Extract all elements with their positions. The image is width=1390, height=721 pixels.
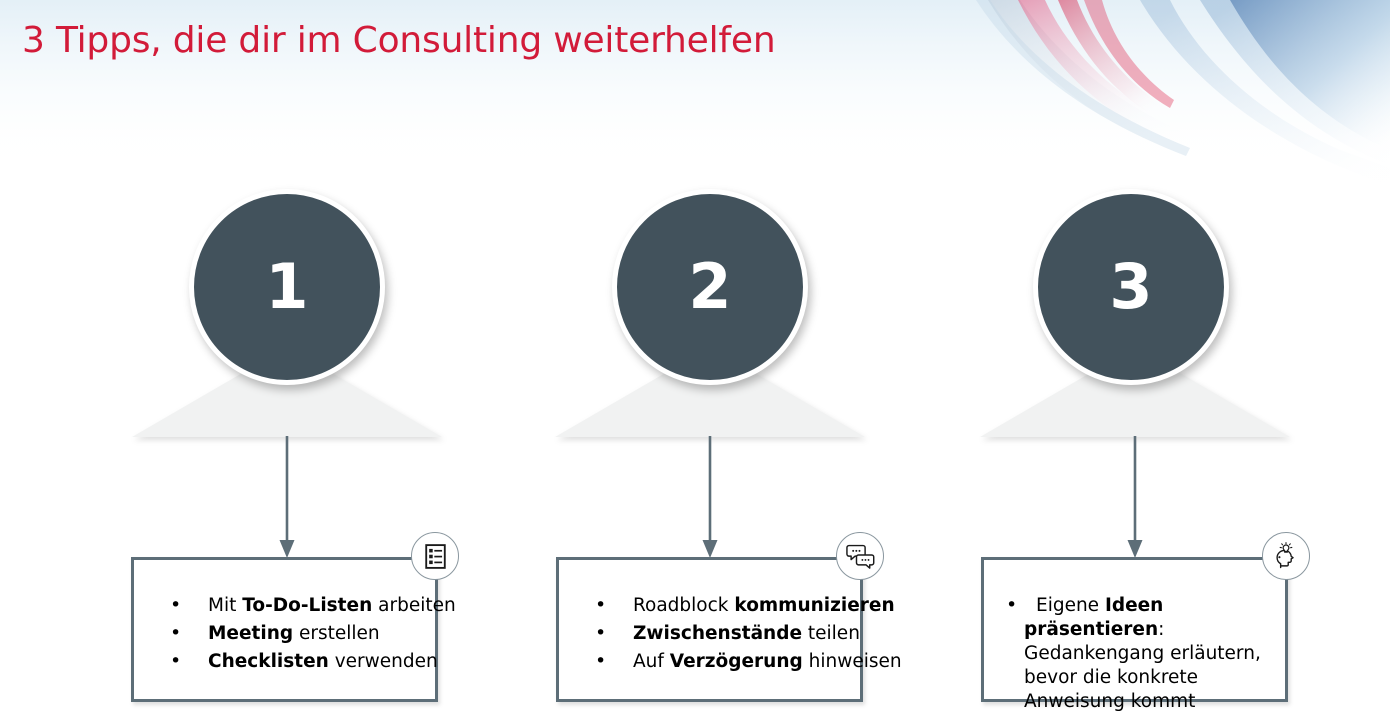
step-3-icon-badge[interactable] (1262, 532, 1310, 580)
list-item: Zwischenstände teilen (573, 622, 846, 646)
step-3-box-body: Eigene Ideen präsentieren: Gedankengang … (984, 560, 1285, 714)
bullet-text-bold: Verzögerung (670, 651, 803, 672)
head-lightbulb-idea-icon (1272, 542, 1300, 570)
step-1-number-circle[interactable]: 1 (189, 189, 385, 385)
slide-title-text: 3 Tipps, die dir im Consulting weiterhel… (22, 20, 775, 61)
list-item: Mit To-Do-Listen arbeiten (148, 594, 421, 618)
step-3-paragraph: Eigene Ideen präsentieren: Gedankengang … (998, 594, 1271, 714)
bullet-text-bold: kommunizieren (734, 595, 894, 616)
speech-bubbles-icon (846, 542, 875, 571)
bullet-text-post: arbeiten (372, 595, 455, 616)
step-1-bullet-list: Mit To-Do-Listen arbeiten Meeting erstel… (148, 594, 421, 674)
step-1-number-label: 1 (265, 256, 308, 318)
bullet-text-bold: Checklisten (208, 651, 329, 672)
list-item: Auf Verzögerung hinweisen (573, 650, 846, 674)
checklist-document-icon (422, 543, 449, 570)
step-1-content-box: Mit To-Do-Listen arbeiten Meeting erstel… (131, 557, 438, 702)
bullet-text-post: teilen (802, 623, 860, 644)
step-3-connector-arrow (1122, 436, 1148, 560)
bullet-text-post: hinweisen (803, 651, 902, 672)
bullet-text-pre: Auf (633, 651, 670, 672)
bullet-text-bold: To-Do-Listen (242, 595, 372, 616)
list-item: Checklisten verwenden (148, 650, 421, 674)
step-2-icon-badge[interactable] (836, 532, 884, 580)
bullet-text-bold: Meeting (208, 623, 293, 644)
bullet-text-post: verwenden (329, 651, 438, 672)
step-2-number-circle[interactable]: 2 (612, 189, 808, 385)
step-3-content-box: Eigene Ideen präsentieren: Gedankengang … (981, 557, 1288, 702)
bullet-text-bold: Zwischenstände (633, 623, 802, 644)
paragraph-text-pre: Eigene (1024, 595, 1105, 616)
bullet-text-pre: Roadblock (633, 595, 734, 616)
list-item: Roadblock kommunizieren (573, 594, 846, 618)
step-1-box-body: Mit To-Do-Listen arbeiten Meeting erstel… (134, 560, 435, 674)
step-2-bullet-list: Roadblock kommunizieren Zwischenstände t… (573, 594, 846, 674)
step-3-number-label: 3 (1109, 256, 1152, 318)
bullet-text-post: erstellen (293, 623, 380, 644)
slide-title: 3 Tipps, die dir im Consulting weiterhel… (22, 20, 775, 61)
slide-canvas: 3 Tipps, die dir im Consulting weiterhel… (0, 0, 1390, 721)
list-item: Meeting erstellen (148, 622, 421, 646)
step-3-number-circle[interactable]: 3 (1033, 189, 1229, 385)
step-1-connector-arrow (274, 436, 300, 560)
step-2-box-body: Roadblock kommunizieren Zwischenstände t… (559, 560, 860, 674)
decorative-swoosh-graphic (870, 0, 1390, 200)
step-2-connector-arrow (697, 436, 723, 560)
step-2-number-label: 2 (688, 256, 731, 318)
step-1-icon-badge[interactable] (411, 532, 459, 580)
step-2-content-box: Roadblock kommunizieren Zwischenstände t… (556, 557, 863, 702)
bullet-text-pre: Mit (208, 595, 242, 616)
